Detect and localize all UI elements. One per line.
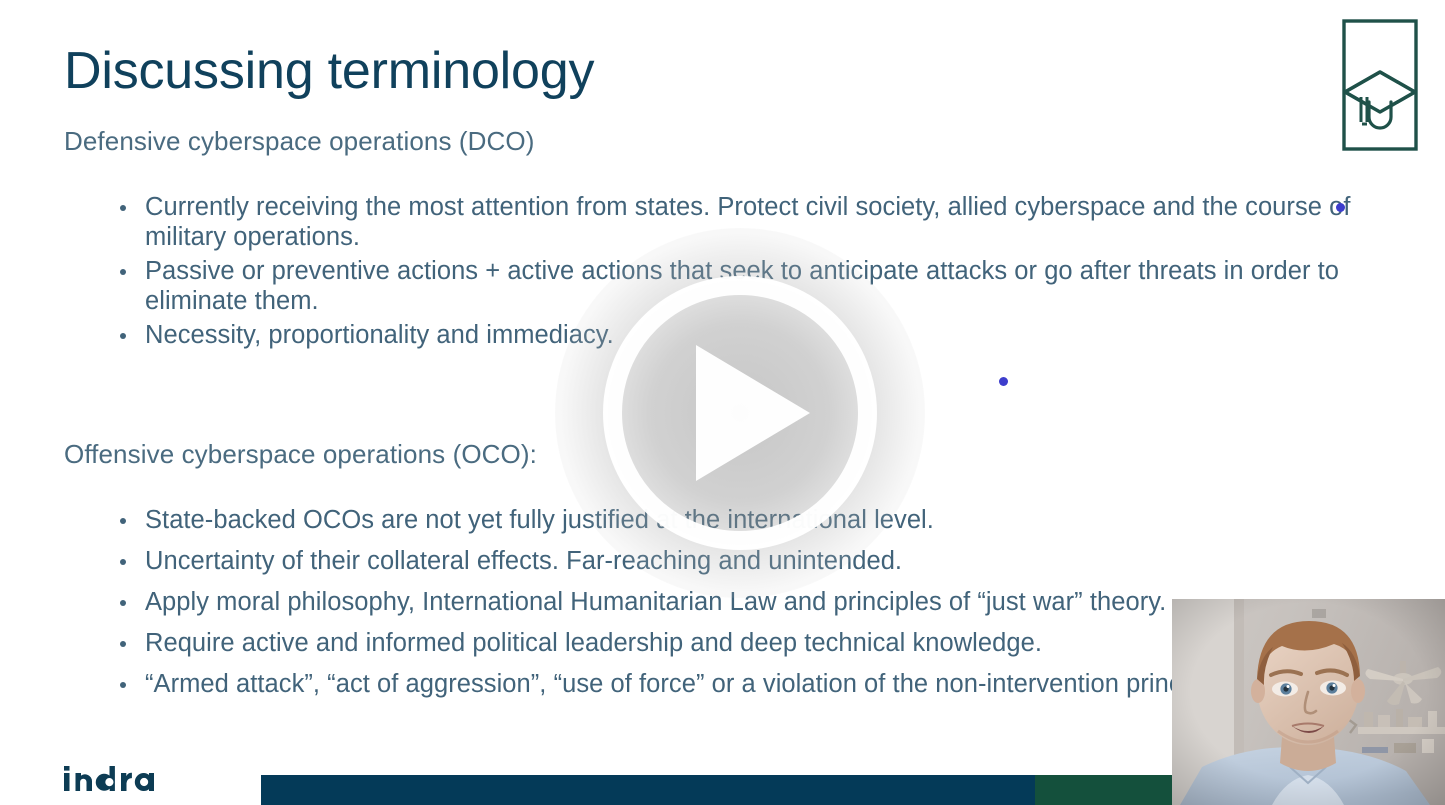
section-heading-oco: Offensive cyberspace operations (OCO): <box>64 439 537 470</box>
indra-logo <box>64 766 154 792</box>
annotation-dot-2 <box>999 377 1008 386</box>
presenter-video-overlay[interactable] <box>1172 599 1445 805</box>
list-item: Uncertainty of their collateral effects.… <box>110 546 1380 576</box>
section-heading-dco: Defensive cyberspace operations (DCO) <box>64 126 534 157</box>
list-item: Currently receiving the most attention f… <box>110 192 1380 252</box>
annotation-dot-1 <box>1336 203 1345 212</box>
page-title: Discussing terminology <box>64 44 594 99</box>
video-player-frame: Discussing terminology Defensive cybersp… <box>0 0 1445 805</box>
play-triangle-icon <box>696 345 810 481</box>
graduation-cap-icon <box>1341 18 1419 152</box>
footer-segment-navy <box>261 775 1035 805</box>
